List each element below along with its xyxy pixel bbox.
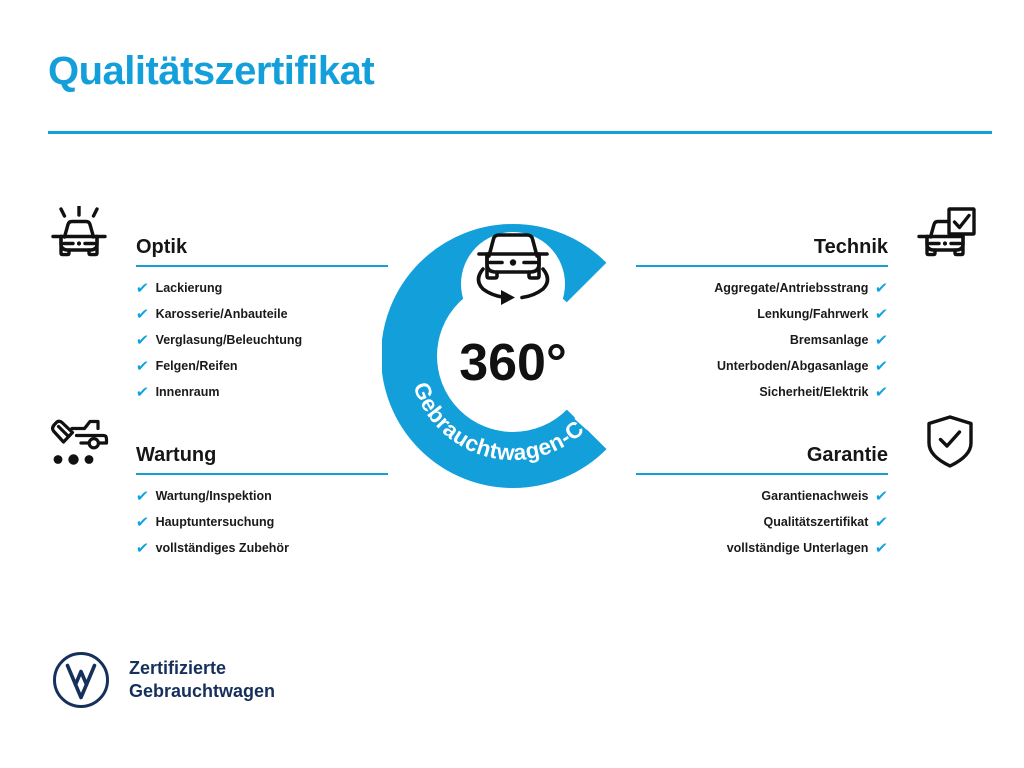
checklist-optik: ✔Lackierung ✔Karosserie/Anbauteile ✔Verg… [136,281,388,400]
checklist-wartung: ✔Wartung/Inspektion ✔Hauptuntersuchung ✔… [136,489,388,556]
badge-top-cutout [461,232,565,336]
list-item-label: Hauptuntersuchung [156,516,275,529]
check-icon: ✔ [135,385,149,400]
list-item-label: Wartung/Inspektion [156,490,272,503]
section-optik: Optik ✔Lackierung ✔Karosserie/Anbauteile… [48,205,408,411]
list-item: ✔Karosserie/Anbauteile [136,307,388,322]
list-item: ✔Verglasung/Beleuchtung [136,333,388,348]
list-item-label: Qualitätszertifikat [764,516,869,529]
section-underline [136,265,388,267]
section-header: Wartung [48,413,408,475]
badge-360-check: 360° Gebrauchtwagen-Check [382,196,644,488]
list-item-label: Karosserie/Anbauteile [156,308,288,321]
section-title: Optik [136,236,388,265]
list-item-label: Lenkung/Fahrwerk [757,308,868,321]
footer-text: Zertifizierte Gebrauchtwagen [129,657,275,703]
section-title: Wartung [136,444,388,473]
check-icon: ✔ [135,281,149,296]
list-item: Sicherheit/Elektrik✔ [636,385,888,400]
footer-line-1: Zertifizierte [129,657,275,680]
list-item-label: Aggregate/Antriebsstrang [714,282,868,295]
list-item: Qualitätszertifikat✔ [636,515,888,530]
list-item: Lenkung/Fahrwerk✔ [636,307,888,322]
section-header: Technik [616,205,976,267]
list-item: ✔Hauptuntersuchung [136,515,388,530]
footer-brand: Zertifizierte Gebrauchtwagen [52,651,275,709]
list-item-label: Verglasung/Beleuchtung [156,334,303,347]
check-icon: ✔ [875,385,889,400]
section-wartung: Wartung ✔Wartung/Inspektion ✔Hauptunters… [48,413,408,567]
section-technik: Technik Aggregate/Antriebsstrang✔ Lenkun… [616,205,976,411]
list-item-label: Lackierung [156,282,223,295]
list-item: Unterboden/Abgasanlage✔ [636,359,888,374]
check-icon: ✔ [875,307,889,322]
section-title: Garantie [636,444,888,473]
section-title-wrap: Garantie [636,444,888,475]
list-item: vollständige Unterlagen✔ [636,541,888,556]
section-title: Technik [636,236,888,265]
list-item-label: Garantienachweis [761,490,868,503]
list-item-label: Unterboden/Abgasanlage [717,360,868,373]
check-icon: ✔ [875,333,889,348]
car-shine-icon [48,205,124,263]
list-item: Garantienachweis✔ [636,489,888,504]
check-icon: ✔ [875,281,889,296]
list-item-label: Bremsanlage [790,334,869,347]
check-icon: ✔ [135,489,149,504]
section-header: Garantie [616,413,976,475]
check-icon: ✔ [875,541,889,556]
list-item-label: Innenraum [156,386,220,399]
check-icon: ✔ [135,359,149,374]
wrench-car-icon [48,413,124,471]
section-header: Optik [48,205,408,267]
vw-logo [52,651,110,709]
check-icon: ✔ [875,515,889,530]
list-item: ✔Lackierung [136,281,388,296]
check-icon: ✔ [135,515,149,530]
checklist-technik: Aggregate/Antriebsstrang✔ Lenkung/Fahrwe… [636,281,888,400]
section-underline [136,473,388,475]
car-checkbox-icon [900,205,976,263]
check-icon: ✔ [135,541,149,556]
list-item-label: vollständiges Zubehör [156,542,289,555]
page-title: Qualitätszertifikat [48,51,374,91]
checklist-garantie: Garantienachweis✔ Qualitätszertifikat✔ v… [636,489,888,556]
check-icon: ✔ [875,489,889,504]
list-item-label: vollständige Unterlagen [727,542,869,555]
section-garantie: Garantie Garantienachweis✔ Qualitätszert… [616,413,976,567]
list-item: Aggregate/Antriebsstrang✔ [636,281,888,296]
check-icon: ✔ [135,333,149,348]
section-title-wrap: Technik [636,236,888,267]
title-divider [48,131,992,134]
list-item: ✔Felgen/Reifen [136,359,388,374]
list-item: Bremsanlage✔ [636,333,888,348]
list-item: ✔vollständiges Zubehör [136,541,388,556]
section-title-wrap: Wartung [136,444,388,475]
list-item-label: Felgen/Reifen [156,360,238,373]
section-title-wrap: Optik [136,236,388,267]
list-item: ✔Wartung/Inspektion [136,489,388,504]
check-icon: ✔ [135,307,149,322]
shield-check-icon [900,413,976,471]
list-item: ✔Innenraum [136,385,388,400]
section-underline [636,473,888,475]
check-icon: ✔ [875,359,889,374]
section-underline [636,265,888,267]
footer-line-2: Gebrauchtwagen [129,680,275,703]
list-item-label: Sicherheit/Elektrik [759,386,868,399]
badge-center-label: 360° [459,334,567,392]
